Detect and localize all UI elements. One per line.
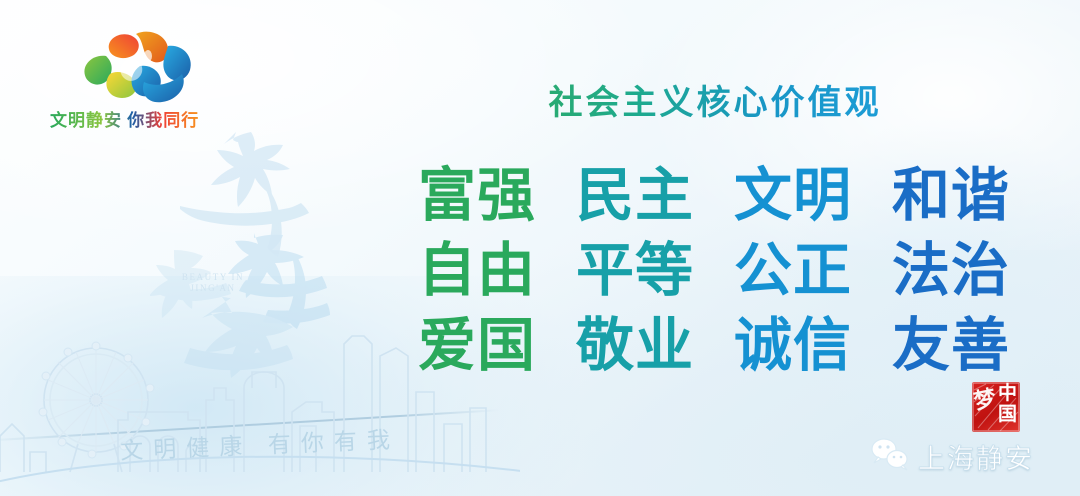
poster-canvas: BEAUTY IN JING'AN	[0, 0, 1080, 496]
china-dream-seal: 梦 中 国	[972, 382, 1020, 432]
value-word: 和谐	[892, 166, 1010, 226]
page-title: 社会主义核心价值观	[500, 82, 930, 124]
value-row: 富强 民主 文明 和谐	[418, 158, 1010, 233]
value-word: 公正	[734, 241, 852, 301]
footer-branding: 梦 中 国 上海静安	[866, 382, 1066, 482]
seal-char-zhong: 中	[998, 384, 1017, 404]
value-row: 自由 平等 公正 法治	[418, 233, 1010, 308]
calligraphy-english: BEAUTY IN JING'AN	[158, 272, 268, 294]
calligraphy-english-line2: JING'AN	[158, 283, 268, 294]
svg-text:文明静安 你我同行: 文明静安 你我同行	[50, 110, 199, 130]
core-values-list: 富强 民主 文明 和谐 自由 平等 公正 法治 爱国 敬业 诚信 友善	[418, 158, 1010, 383]
wechat-account-name: 上海静安	[918, 437, 1034, 476]
seal-char-guo: 国	[998, 405, 1017, 425]
value-word: 民主	[576, 166, 694, 226]
calligraphy-english-line1: BEAUTY IN	[158, 272, 268, 283]
wechat-account: 上海静安	[870, 437, 1034, 476]
jingan-logo-mark	[48, 26, 228, 106]
value-word: 法治	[892, 241, 1010, 301]
value-word: 敬业	[576, 316, 694, 376]
value-word: 诚信	[734, 316, 852, 376]
value-word: 爱国	[418, 316, 536, 376]
value-row: 爱国 敬业 诚信 友善	[418, 308, 1010, 383]
value-word: 友善	[892, 316, 1010, 376]
seal-char-meng: 梦	[972, 386, 998, 414]
wechat-icon	[870, 437, 910, 476]
value-word: 富强	[418, 166, 536, 226]
value-word: 平等	[576, 241, 694, 301]
jingan-logo-tagline: 文明静安 你我同行	[50, 108, 226, 132]
value-word: 文明	[734, 166, 852, 226]
value-word: 自由	[418, 241, 536, 301]
jingan-logo: 文明静安 你我同行	[48, 26, 228, 134]
